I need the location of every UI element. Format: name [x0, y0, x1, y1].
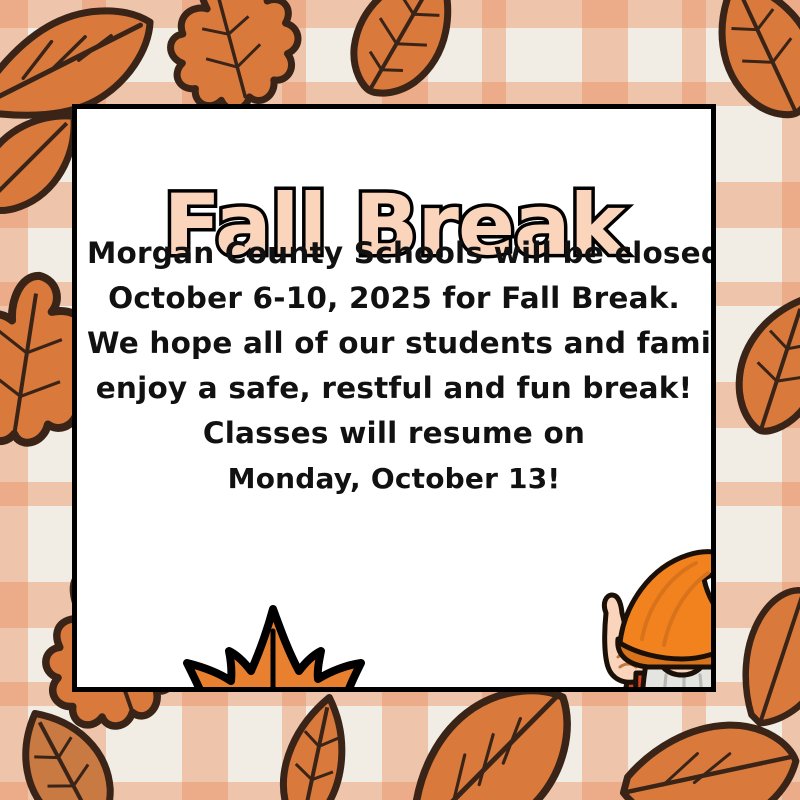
fall-break-poster: Fall Break Morgan County Schools will be…: [0, 0, 800, 800]
maple-leaf-icon: [165, 597, 385, 692]
gnome-icon: [572, 547, 716, 692]
background-leaf-icon: [390, 688, 590, 800]
background-oak-leaf-icon: [150, 0, 310, 120]
background-leaf-icon: [250, 690, 380, 800]
body-line: October 6-10, 2025 for Fall Break.: [87, 276, 701, 321]
body-line: Morgan County Schools will be closed: [87, 231, 701, 276]
body-line: enjoy a safe, restful and fun break!: [87, 366, 701, 411]
body-line: Classes will resume on: [87, 411, 701, 456]
body-line: We hope all of our students and families: [87, 321, 701, 366]
announcement-body: Morgan County Schools will be closed Oct…: [87, 231, 701, 501]
background-leaf-icon: [716, 596, 800, 726]
announcement-card: Fall Break Morgan County Schools will be…: [72, 104, 716, 692]
background-leaf-icon: [0, 700, 140, 800]
background-leaf-icon: [330, 0, 480, 104]
body-line: Monday, October 13!: [87, 456, 701, 501]
background-leaf-icon: [712, 290, 800, 440]
